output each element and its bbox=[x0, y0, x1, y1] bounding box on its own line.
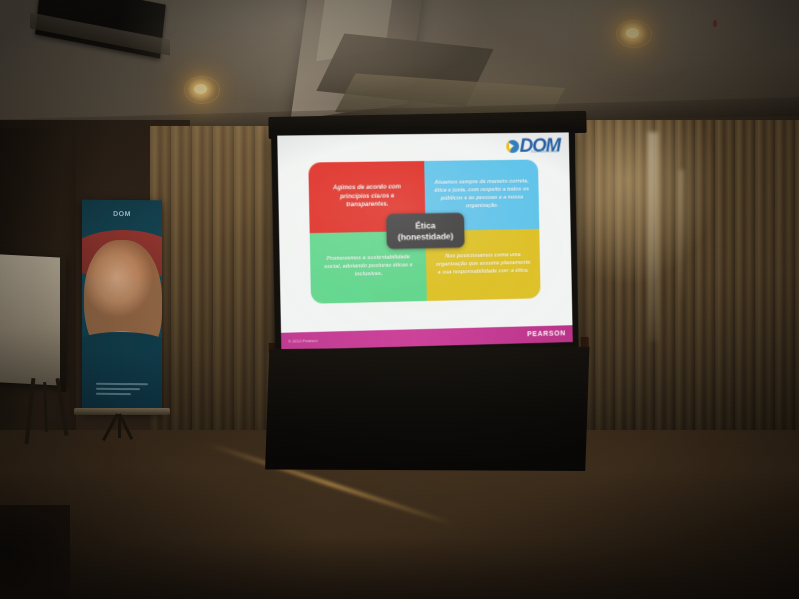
presentation-slide: DOM EDUCACIONAL Agimos de acordo com pri… bbox=[277, 132, 573, 350]
projection-screen-frame: DOM EDUCACIONAL Agimos de acordo com pri… bbox=[271, 126, 579, 356]
conference-room-photo: DOM DOM bbox=[0, 0, 799, 599]
ethics-quadrant-diagram: Agimos de acordo com princípios claros e… bbox=[308, 160, 540, 304]
ceiling-spotlight-left bbox=[194, 84, 207, 94]
projection-screen-surface: DOM EDUCACIONAL Agimos de acordo com pri… bbox=[277, 132, 573, 350]
quadrant-bottom-right-text: Nos posicionamos como uma organização qu… bbox=[435, 252, 531, 277]
pearson-logo: PEARSON bbox=[527, 330, 566, 338]
screen-drop-skirt bbox=[263, 343, 595, 477]
quadrant-top-right-text: Atuamos sempre de maneira correta, ética… bbox=[434, 179, 531, 212]
screen-tab-right bbox=[581, 337, 589, 347]
center-label-ethics: Ética (honestidade) bbox=[386, 213, 465, 250]
flipchart-board bbox=[0, 254, 66, 386]
curtain-highlight-a bbox=[648, 132, 658, 342]
slide-body: DOM EDUCACIONAL Agimos de acordo com pri… bbox=[277, 132, 572, 332]
banner-leg-center bbox=[118, 414, 121, 438]
slide-copyright: © 2013 Pearson bbox=[288, 338, 317, 343]
ceiling-indicator-led bbox=[713, 20, 717, 27]
curtain-right bbox=[575, 120, 799, 465]
banner-logo: DOM bbox=[113, 211, 131, 218]
quadrant-top-left-text: Agimos de acordo com princípios claros e… bbox=[318, 183, 416, 211]
play-circle-icon bbox=[506, 140, 519, 153]
curtain-highlight-b bbox=[679, 170, 684, 300]
banner-base bbox=[74, 408, 170, 415]
quadrant-bottom-left-text: Promovemos a sustentabilidade social, ad… bbox=[319, 254, 417, 280]
banner-text-lines bbox=[96, 383, 148, 399]
rollup-banner: DOM bbox=[82, 200, 162, 413]
ceiling-spotlight-right bbox=[626, 28, 639, 38]
floor-shadow-left bbox=[0, 505, 70, 599]
banner-lower-panel bbox=[82, 350, 162, 413]
dom-logo-subtitle: EDUCACIONAL bbox=[531, 149, 559, 153]
center-label-line2: (honestidade) bbox=[390, 230, 460, 242]
projection-screen-assembly: DOM EDUCACIONAL Agimos de acordo com pri… bbox=[250, 111, 601, 506]
flipchart-frame bbox=[60, 252, 66, 392]
